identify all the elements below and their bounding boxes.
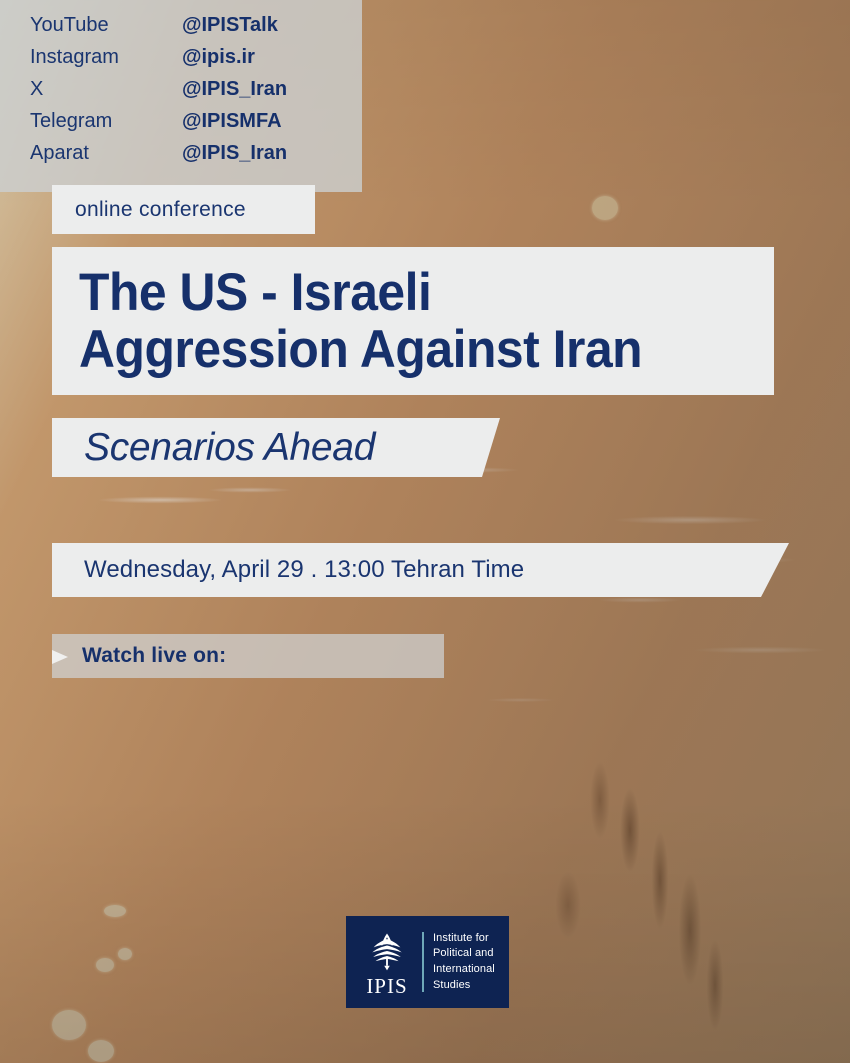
logo-name-line-3: International	[433, 962, 495, 978]
logo-name-line-2: Political and	[433, 946, 495, 962]
social-handle-label: @IPIS_Iran	[182, 78, 287, 101]
logo-divider	[422, 932, 424, 992]
social-platform-label: Instagram	[30, 46, 182, 69]
list-item[interactable]: Instagram @ipis.ir	[0, 46, 362, 78]
poster-content: online conference The US - Israeli Aggre…	[0, 0, 850, 1063]
datetime-banner: Wednesday, April 29 . 13:00 Tehran Time	[52, 543, 789, 597]
list-item[interactable]: Telegram @IPISMFA	[0, 110, 362, 142]
social-handle-label: @IPIS_Iran	[182, 142, 287, 165]
title-line-2: Aggression Against Iran	[79, 321, 642, 378]
eyebrow-banner: online conference	[52, 185, 315, 234]
logo-name-block: Institute for Political and Internationa…	[433, 931, 495, 993]
title-banner: The US - Israeli Aggression Against Iran	[52, 247, 774, 395]
conference-poster: online conference The US - Israeli Aggre…	[0, 0, 850, 1063]
title-line-1: The US - Israeli	[79, 264, 431, 321]
watch-live-banner: Watch live on:	[52, 634, 444, 678]
socials-panel: YouTube @IPISTalk Instagram @ipis.ir X @…	[0, 0, 362, 192]
social-handle-label: @IPISTalk	[182, 14, 278, 37]
logo-emblem-group: IPIS	[358, 928, 416, 997]
logo-name-line-1: Institute for	[433, 931, 495, 947]
logo-name-line-4: Studies	[433, 978, 495, 994]
social-platform-label: X	[30, 78, 182, 101]
social-handle-label: @IPISMFA	[182, 110, 282, 133]
eyebrow-label: online conference	[75, 198, 246, 222]
list-item[interactable]: Aparat @IPIS_Iran	[0, 142, 362, 174]
watch-live-label: Watch live on:	[82, 644, 226, 668]
social-handle-label: @ipis.ir	[182, 46, 255, 69]
logo-acronym-label: IPIS	[366, 976, 407, 997]
palm-tree-icon	[364, 928, 410, 974]
list-item[interactable]: X @IPIS_Iran	[0, 78, 362, 110]
social-platform-label: Aparat	[30, 142, 182, 165]
social-platform-label: YouTube	[30, 14, 182, 37]
subtitle-banner: Scenarios Ahead	[52, 418, 500, 477]
ipis-logo: IPIS Institute for Political and Interna…	[346, 916, 509, 1008]
subtitle-label: Scenarios Ahead	[84, 426, 375, 470]
list-item[interactable]: YouTube @IPISTalk	[0, 14, 362, 46]
social-platform-label: Telegram	[30, 110, 182, 133]
datetime-label: Wednesday, April 29 . 13:00 Tehran Time	[84, 556, 524, 584]
